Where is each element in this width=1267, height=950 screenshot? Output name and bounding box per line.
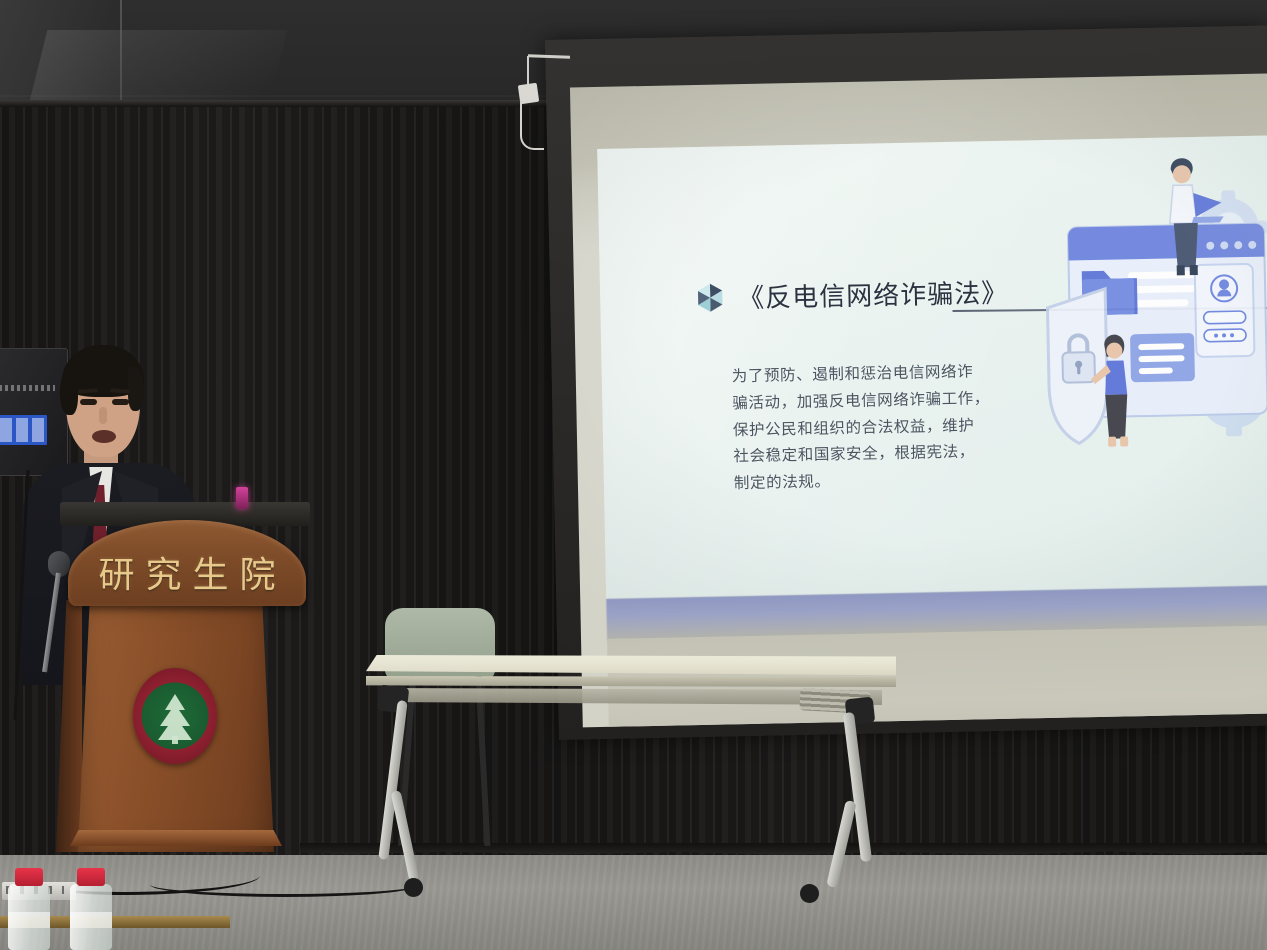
podium-indicator-light — [236, 487, 248, 509]
presenter-hair-side-left — [60, 367, 78, 415]
bottle-label — [70, 912, 112, 928]
projection-screen: 《反电信网络诈骗法》 为了预防、遏制和惩治电信网络诈 骗活动，加强反电信网络诈骗… — [545, 26, 1267, 740]
water-bottle — [8, 884, 50, 950]
presenter-eye-left — [80, 399, 97, 405]
table-caster — [800, 884, 819, 903]
presenter-mouth — [92, 430, 116, 443]
bottle-label — [8, 912, 50, 928]
screen-surface: 《反电信网络诈骗法》 为了预防、遏制和惩治电信网络诈 骗活动，加强反电信网络诈骗… — [570, 73, 1267, 727]
screen-pull-cord-tail — [520, 100, 544, 150]
floor-cable — [150, 872, 420, 897]
bottle-cap — [77, 868, 105, 886]
bottle-cap — [15, 868, 43, 886]
presenter-hair-side-right — [128, 367, 144, 411]
screen-lower-beige-band — [607, 625, 1267, 728]
presenter-nose — [99, 407, 107, 424]
water-bottle — [70, 884, 112, 950]
podium-nameplate-text: 研究生院 — [68, 546, 306, 598]
podium-base-molding — [70, 830, 282, 846]
table-caster — [404, 878, 423, 897]
screen-pull-cord-line — [527, 56, 529, 86]
presenter-eye-right — [112, 399, 129, 405]
pine-tree-icon — [152, 692, 198, 744]
slide-vignette — [597, 135, 1267, 599]
lecture-hall-photo: 《反电信网络诈骗法》 为了预防、遏制和惩治电信网络诈 骗活动，加强反电信网络诈骗… — [0, 0, 1267, 950]
projected-slide: 《反电信网络诈骗法》 为了预防、遏制和惩治电信网络诈 骗活动，加强反电信网络诈骗… — [597, 135, 1267, 599]
university-crest — [133, 668, 217, 764]
